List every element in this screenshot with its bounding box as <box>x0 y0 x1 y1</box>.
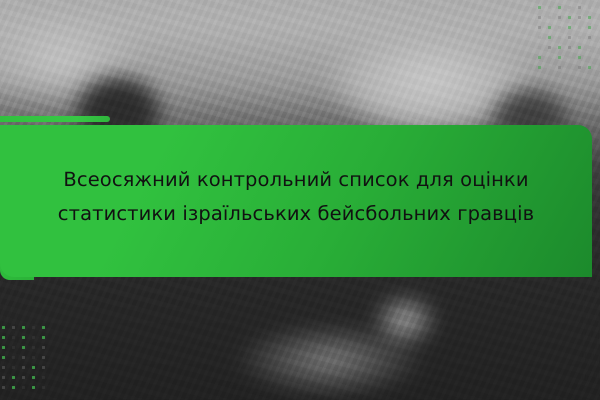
accent-bar <box>0 116 110 122</box>
title-line-1: Всеосяжний контрольний список для оцінки <box>63 168 528 191</box>
page-title: Всеосяжний контрольний список для оцінки… <box>58 163 534 230</box>
title-card: Всеосяжний контрольний список для оцінки… <box>0 125 592 277</box>
banner-canvas: Всеосяжний контрольний список для оцінки… <box>0 0 600 400</box>
title-line-2: статистики ізраїльських бейсбольних грав… <box>58 202 534 225</box>
